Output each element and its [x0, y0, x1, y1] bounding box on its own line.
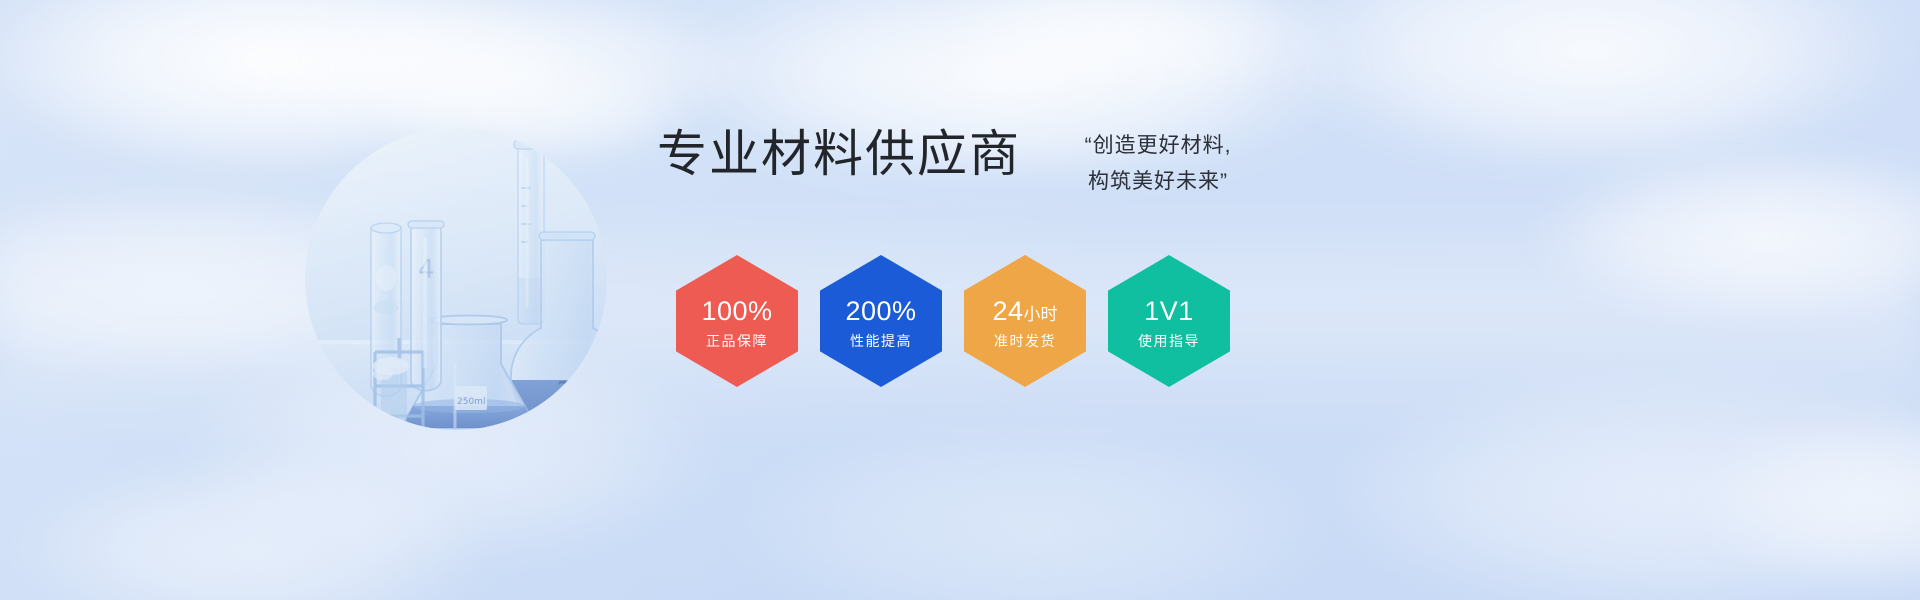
- badge-label: 正品保障: [706, 334, 768, 348]
- badge-label: 准时发货: [994, 334, 1056, 348]
- laboratory-photo: 250 ±0.2 ml 250ml: [305, 128, 607, 430]
- tagline: “创造更好材料, 构筑美好未来”: [1068, 128, 1248, 200]
- badge-value: 200%: [845, 298, 916, 325]
- tagline-line-2: 构筑美好未来”: [1068, 164, 1248, 200]
- feature-badge-performance[interactable]: 200% 性能提高: [820, 255, 942, 387]
- feature-badge-shipping[interactable]: 24 小时 准时发货: [964, 255, 1086, 387]
- badge-value-group: 100%: [701, 298, 772, 325]
- tagline-line-1: “创造更好材料,: [1068, 128, 1248, 164]
- badge-value: 24: [992, 298, 1023, 325]
- badge-value-group: 1V1: [1144, 298, 1194, 325]
- page-title: 专业材料供应商: [657, 126, 1021, 182]
- badge-value: 100%: [701, 298, 772, 325]
- badge-label: 使用指导: [1138, 334, 1200, 348]
- badge-label: 性能提高: [850, 334, 912, 348]
- hero-banner: 250 ±0.2 ml 250ml: [0, 0, 1920, 600]
- svg-text:±0.2: ±0.2: [601, 385, 607, 393]
- badge-value-group: 24 小时: [992, 298, 1057, 325]
- svg-text:ml: ml: [601, 393, 607, 401]
- feature-badge-support[interactable]: 1V1 使用指导: [1108, 255, 1230, 387]
- laboratory-glassware-illustration: 250 ±0.2 ml 250ml: [305, 128, 607, 430]
- badge-unit: 小时: [1024, 306, 1058, 323]
- badge-value-group: 200%: [845, 298, 916, 325]
- feature-badge-quality[interactable]: 100% 正品保障: [676, 255, 798, 387]
- badge-value: 1V1: [1144, 298, 1194, 325]
- feature-badge-row: 100% 正品保障 200% 性能提高 24 小时 准时发货 1V1: [676, 255, 1230, 387]
